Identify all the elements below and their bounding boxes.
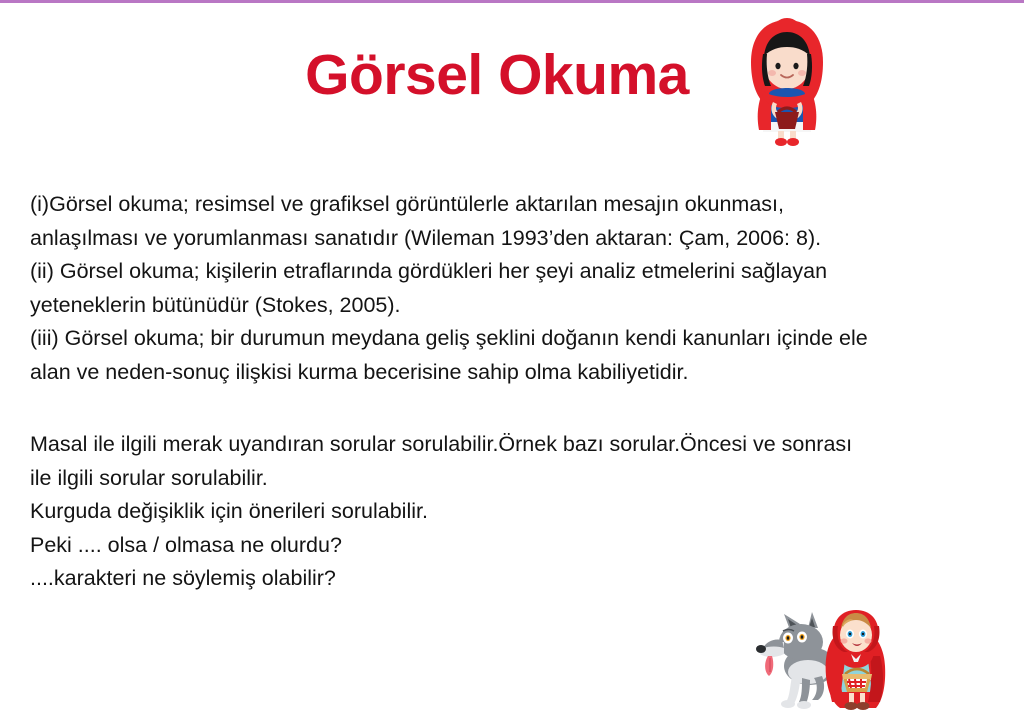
definitions-line-1: (i)Görsel okuma; resimsel ve grafiksel g…: [30, 188, 990, 222]
slide-canvas: Görsel Okuma (i)Görsel okuma; resimsel v…: [0, 0, 1024, 724]
definitions-line-3: (ii) Görsel okuma; kişilerin etraflarınd…: [30, 255, 990, 289]
definitions-line-4: yeteneklerin bütünüdür (Stokes, 2005).: [30, 289, 990, 323]
definitions-line-6: alan ve neden-sonuç ilişkisi kurma becer…: [30, 356, 990, 390]
page-title: Görsel Okuma: [0, 46, 1024, 106]
top-border-rule: [0, 0, 1024, 3]
questions-line-5: ....karakteri ne söylemiş olabilir?: [30, 562, 990, 596]
questions-line-2: ile ilgili sorular sorulabilir.: [30, 462, 990, 496]
wolf-and-red-riding-hood-icon: [752, 600, 892, 718]
questions-line-1: Masal ile ilgili merak uyandıran sorular…: [30, 428, 990, 462]
definitions-line-5: (iii) Görsel okuma; bir durumun meydana …: [30, 322, 990, 356]
questions-paragraph: Masal ile ilgili merak uyandıran sorular…: [30, 428, 990, 596]
little-red-riding-hood-doll-icon: [733, 16, 841, 148]
questions-line-4: Peki .... olsa / olmasa ne olurdu?: [30, 529, 990, 563]
definitions-paragraph: (i)Görsel okuma; resimsel ve grafiksel g…: [30, 188, 990, 389]
definitions-line-2: anlaşılması ve yorumlanması sanatıdır (W…: [30, 222, 990, 256]
questions-line-3: Kurguda değişiklik için önerileri sorula…: [30, 495, 990, 529]
